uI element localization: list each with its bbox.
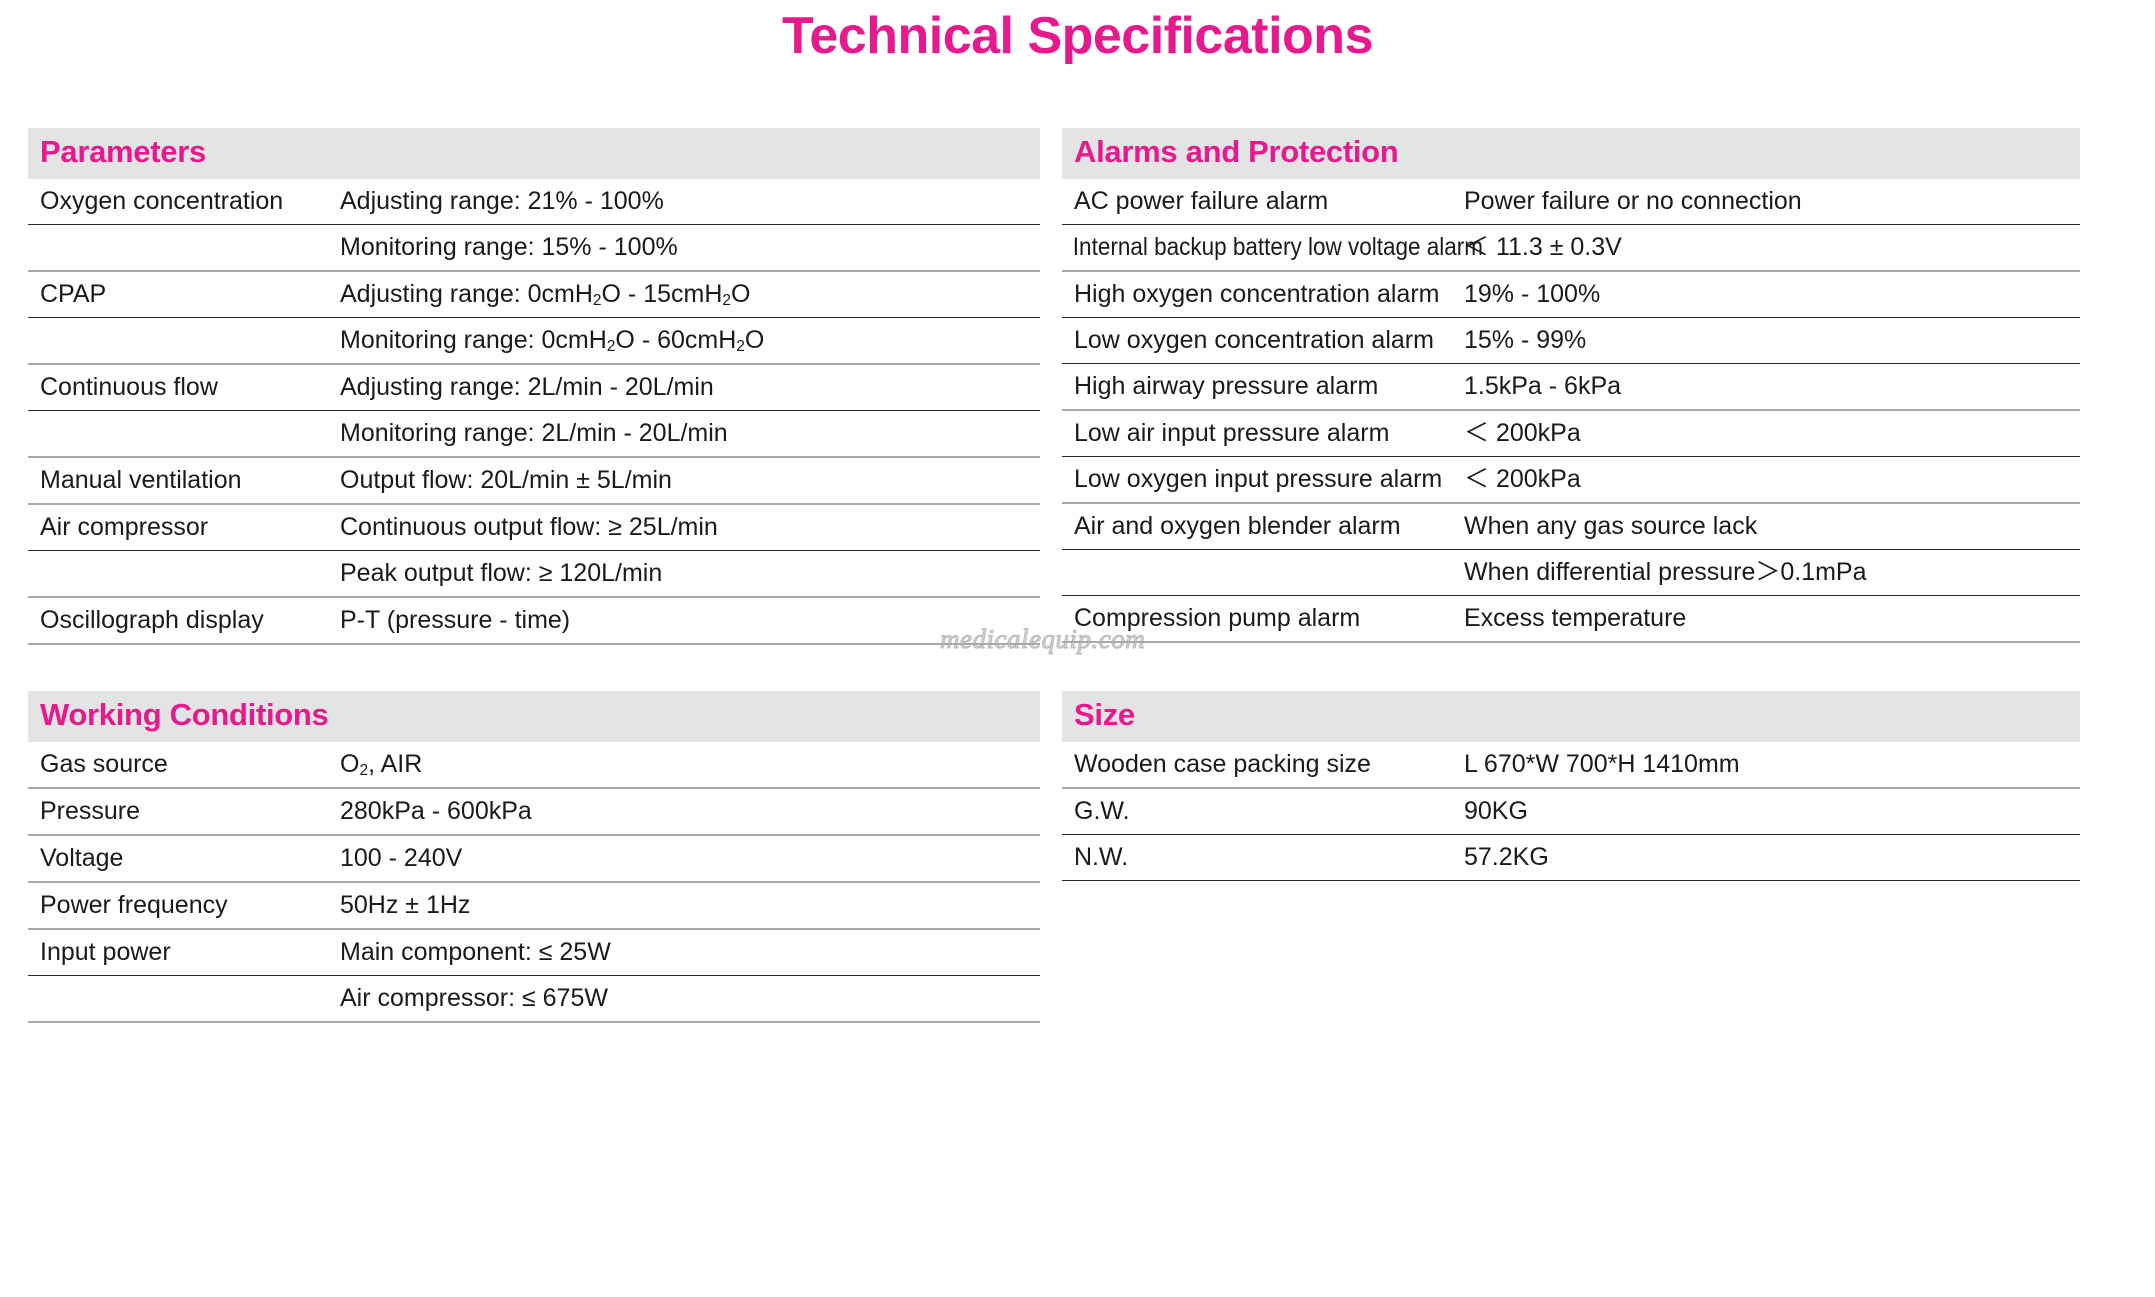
row-value: Main component: ≤ 25W xyxy=(328,929,1040,976)
row-value: Peak output flow: ≥ 120L/min xyxy=(328,551,1040,598)
row-label: Low oxygen input pressure alarm xyxy=(1062,457,1452,504)
row-value: Continuous output flow: ≥ 25L/min xyxy=(328,504,1040,551)
row-value: 57.2KG xyxy=(1452,835,2080,881)
row-value: 1.5kPa - 6kPa xyxy=(1452,364,2080,411)
row-value: ＜ 11.3 ± 0.3V xyxy=(1452,225,2080,272)
row-label: N.W. xyxy=(1062,835,1452,881)
section-size: Size Wooden case packing size L 670*W 70… xyxy=(1062,691,2080,881)
specifications-sheet: Parameters Oxygen concentration Adjustin… xyxy=(0,128,2155,1023)
table-row: N.W. 57.2KG xyxy=(1062,835,2080,881)
table-working-conditions: Gas source O2, AIR Pressure 280kPa - 600… xyxy=(28,742,1040,1023)
section-working-conditions: Working Conditions Gas source O2, AIR Pr… xyxy=(28,691,1040,1023)
table-row: AC power failure alarm Power failure or … xyxy=(1062,179,2080,225)
table-size: Wooden case packing size L 670*W 700*H 1… xyxy=(1062,742,2080,881)
table-row: Pressure 280kPa - 600kPa xyxy=(28,788,1040,835)
row-label: High airway pressure alarm xyxy=(1062,364,1452,411)
row-value: ＜ 200kPa xyxy=(1452,457,2080,504)
table-row: Internal backup battery low voltage alar… xyxy=(1062,225,2080,272)
section-header-alarms: Alarms and Protection xyxy=(1062,128,2080,179)
row-value: When differential pressure＞0.1mPa xyxy=(1452,550,2080,596)
table-row: G.W. 90KG xyxy=(1062,788,2080,835)
table-row: Low oxygen input pressure alarm ＜ 200kPa xyxy=(1062,457,2080,504)
row-label: G.W. xyxy=(1062,788,1452,835)
row-value: L 670*W 700*H 1410mm xyxy=(1452,742,2080,788)
row-value: 19% - 100% xyxy=(1452,271,2080,318)
section-parameters: Parameters Oxygen concentration Adjustin… xyxy=(28,128,1040,645)
table-row: CPAP Adjusting range: 0cmH2O - 15cmH2O xyxy=(28,271,1040,318)
row-label: Low air input pressure alarm xyxy=(1062,410,1452,457)
column-right-bottom: Size Wooden case packing size L 670*W 70… xyxy=(1062,691,2155,881)
band-spacer xyxy=(0,645,2155,691)
row-value: Air compressor: ≤ 675W xyxy=(328,976,1040,1023)
table-row: Oxygen concentration Adjusting range: 21… xyxy=(28,179,1040,225)
row-label: Voltage xyxy=(28,835,328,882)
row-label xyxy=(28,318,328,365)
row-label: Oscillograph display xyxy=(28,597,328,644)
table-row: Air compressor Continuous output flow: ≥… xyxy=(28,504,1040,551)
table-row: Continuous flow Adjusting range: 2L/min … xyxy=(28,364,1040,411)
table-row: When differential pressure＞0.1mPa xyxy=(1062,550,2080,596)
table-row: High airway pressure alarm 1.5kPa - 6kPa xyxy=(1062,364,2080,411)
row-label: Input power xyxy=(28,929,328,976)
row-value: Adjusting range: 0cmH2O - 15cmH2O xyxy=(328,271,1040,318)
table-row: Oscillograph display P-T (pressure - tim… xyxy=(28,597,1040,644)
row-value: Power failure or no connection xyxy=(1452,179,2080,225)
section-header-working-conditions: Working Conditions xyxy=(28,691,1040,742)
table-row: Power frequency 50Hz ± 1Hz xyxy=(28,882,1040,929)
band-top: Parameters Oxygen concentration Adjustin… xyxy=(0,128,2155,645)
row-label xyxy=(1062,550,1452,596)
table-row: Gas source O2, AIR xyxy=(28,742,1040,788)
row-value: Adjusting range: 21% - 100% xyxy=(328,179,1040,225)
table-row: Air compressor: ≤ 675W xyxy=(28,976,1040,1023)
row-label: Pressure xyxy=(28,788,328,835)
row-value: 15% - 99% xyxy=(1452,318,2080,364)
row-value: O2, AIR xyxy=(328,742,1040,788)
row-label xyxy=(28,551,328,598)
row-value: Excess temperature xyxy=(1452,596,2080,643)
row-label: Air compressor xyxy=(28,504,328,551)
row-value: Monitoring range: 15% - 100% xyxy=(328,225,1040,272)
row-value: 50Hz ± 1Hz xyxy=(328,882,1040,929)
row-label: Air and oxygen blender alarm xyxy=(1062,503,1452,550)
row-label: Wooden case packing size xyxy=(1062,742,1452,788)
row-label xyxy=(28,225,328,272)
table-row: Monitoring range: 2L/min - 20L/min xyxy=(28,411,1040,458)
column-left-top: Parameters Oxygen concentration Adjustin… xyxy=(0,128,1062,645)
table-row: Peak output flow: ≥ 120L/min xyxy=(28,551,1040,598)
page-title: Technical Specifications xyxy=(0,0,2155,65)
section-header-parameters: Parameters xyxy=(28,128,1040,179)
row-value: When any gas source lack xyxy=(1452,503,2080,550)
row-label: AC power failure alarm xyxy=(1062,179,1452,225)
row-label: CPAP xyxy=(28,271,328,318)
row-label: High oxygen concentration alarm xyxy=(1062,271,1452,318)
row-value: P-T (pressure - time) xyxy=(328,597,1040,644)
row-label: Gas source xyxy=(28,742,328,788)
table-parameters: Oxygen concentration Adjusting range: 21… xyxy=(28,179,1040,645)
row-value: Adjusting range: 2L/min - 20L/min xyxy=(328,364,1040,411)
row-value: 90KG xyxy=(1452,788,2080,835)
row-label: Compression pump alarm xyxy=(1062,596,1452,643)
row-value: 100 - 240V xyxy=(328,835,1040,882)
table-row: Manual ventilation Output flow: 20L/min … xyxy=(28,457,1040,504)
row-label: Oxygen concentration xyxy=(28,179,328,225)
section-header-size: Size xyxy=(1062,691,2080,742)
table-row: Voltage 100 - 240V xyxy=(28,835,1040,882)
row-value: 280kPa - 600kPa xyxy=(328,788,1040,835)
table-row: Monitoring range: 0cmH2O - 60cmH2O xyxy=(28,318,1040,365)
row-label: Manual ventilation xyxy=(28,457,328,504)
row-value: ＜ 200kPa xyxy=(1452,410,2080,457)
band-bottom: Working Conditions Gas source O2, AIR Pr… xyxy=(0,691,2155,1023)
column-right-top: Alarms and Protection AC power failure a… xyxy=(1062,128,2155,643)
table-row: Compression pump alarm Excess temperatur… xyxy=(1062,596,2080,643)
row-label: Internal backup battery low voltage alar… xyxy=(1062,225,1413,272)
table-row: High oxygen concentration alarm 19% - 10… xyxy=(1062,271,2080,318)
table-row: Input power Main component: ≤ 25W xyxy=(28,929,1040,976)
row-value: Output flow: 20L/min ± 5L/min xyxy=(328,457,1040,504)
table-row: Air and oxygen blender alarm When any ga… xyxy=(1062,503,2080,550)
row-label xyxy=(28,976,328,1023)
row-label xyxy=(28,411,328,458)
section-alarms: Alarms and Protection AC power failure a… xyxy=(1062,128,2080,643)
column-left-bottom: Working Conditions Gas source O2, AIR Pr… xyxy=(0,691,1062,1023)
table-row: Wooden case packing size L 670*W 700*H 1… xyxy=(1062,742,2080,788)
row-label: Power frequency xyxy=(28,882,328,929)
table-row: Low air input pressure alarm ＜ 200kPa xyxy=(1062,410,2080,457)
row-value: Monitoring range: 2L/min - 20L/min xyxy=(328,411,1040,458)
table-row: Monitoring range: 15% - 100% xyxy=(28,225,1040,272)
row-label: Continuous flow xyxy=(28,364,328,411)
row-label: Low oxygen concentration alarm xyxy=(1062,318,1452,364)
table-alarms: AC power failure alarm Power failure or … xyxy=(1062,179,2080,643)
row-value: Monitoring range: 0cmH2O - 60cmH2O xyxy=(328,318,1040,365)
table-row: Low oxygen concentration alarm 15% - 99% xyxy=(1062,318,2080,364)
